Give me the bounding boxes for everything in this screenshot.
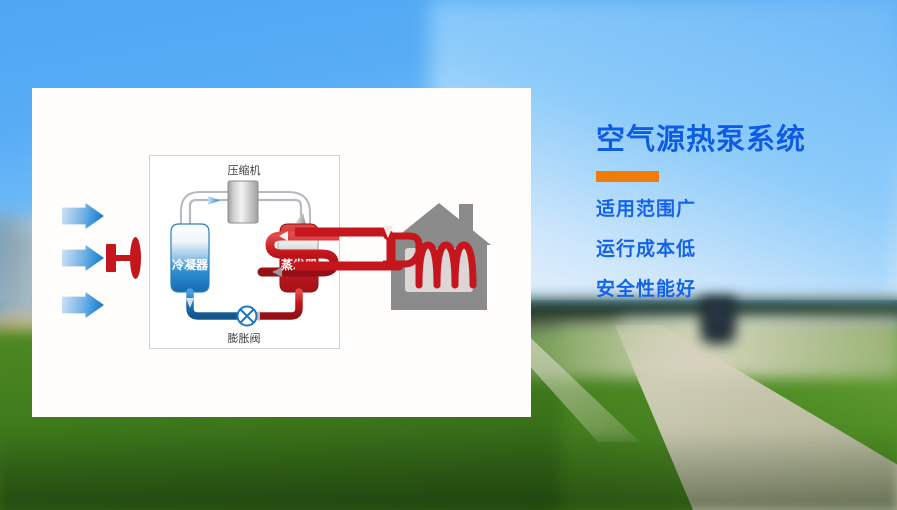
air-intake-arrow-shape (62, 292, 104, 318)
label-expansion-valve: 膨胀阀 (228, 331, 261, 345)
air-intake-arrow-icon (62, 203, 104, 229)
feature-item-2: 运行成本低 (596, 240, 886, 259)
fan-blade (130, 237, 141, 279)
page-title: 空气源热泵系统 (596, 125, 886, 157)
hot-water-pipes (295, 224, 405, 294)
feature-item-1: 适用范围广 (596, 200, 886, 219)
bottom-vignette (0, 430, 897, 510)
air-intake-arrow-shape (62, 245, 104, 271)
accent-bar (596, 171, 659, 182)
feature-list: 适用范围广 运行成本低 安全性能好 (596, 200, 886, 299)
air-intake-arrow-icon (62, 245, 104, 271)
air-intake-arrow-shape (62, 203, 104, 229)
text-panel: 空气源热泵系统 适用范围广 运行成本低 安全性能好 (596, 125, 886, 320)
label-condenser: 冷凝器 (172, 257, 209, 272)
slide-canvas: 压缩机 冷凝器 蒸发器 膨胀阀 空气源热泵系统 适用范围广 运行成 (0, 0, 897, 510)
label-compressor: 压缩机 (228, 163, 261, 177)
feature-item-3: 安全性能好 (596, 280, 886, 299)
fan-symbol-icon (106, 237, 142, 279)
air-intake-arrow-icon (62, 292, 104, 318)
